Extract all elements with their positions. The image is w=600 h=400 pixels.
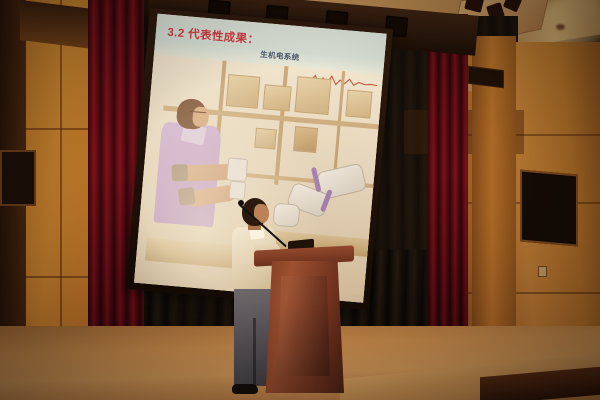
acoustic-wall-panel [520, 169, 578, 246]
prosthetic-cuff [171, 164, 187, 181]
lab-box [226, 74, 261, 109]
ceiling-smoke-detector-icon [556, 24, 565, 30]
lab-box [345, 89, 373, 119]
podium [258, 248, 350, 396]
lab-box [293, 126, 318, 153]
microphone-icon [238, 200, 244, 206]
presenter-leg-seam [253, 318, 256, 386]
presenter-shoe [232, 384, 258, 394]
acoustic-wall-panel [0, 150, 36, 206]
shelf-post [274, 65, 288, 184]
wall-outlet-icon [538, 266, 547, 277]
podium-front-panel [278, 276, 330, 376]
auditorium-photo: 3.2 代表性成果： 生机电系统 [0, 0, 600, 400]
lab-box [262, 84, 292, 112]
prosthetic-hand-device [226, 157, 249, 182]
lab-box [254, 127, 276, 149]
prosthetic-cuff [177, 187, 195, 206]
lab-box [294, 76, 332, 116]
red-stage-curtain-right [428, 14, 468, 364]
